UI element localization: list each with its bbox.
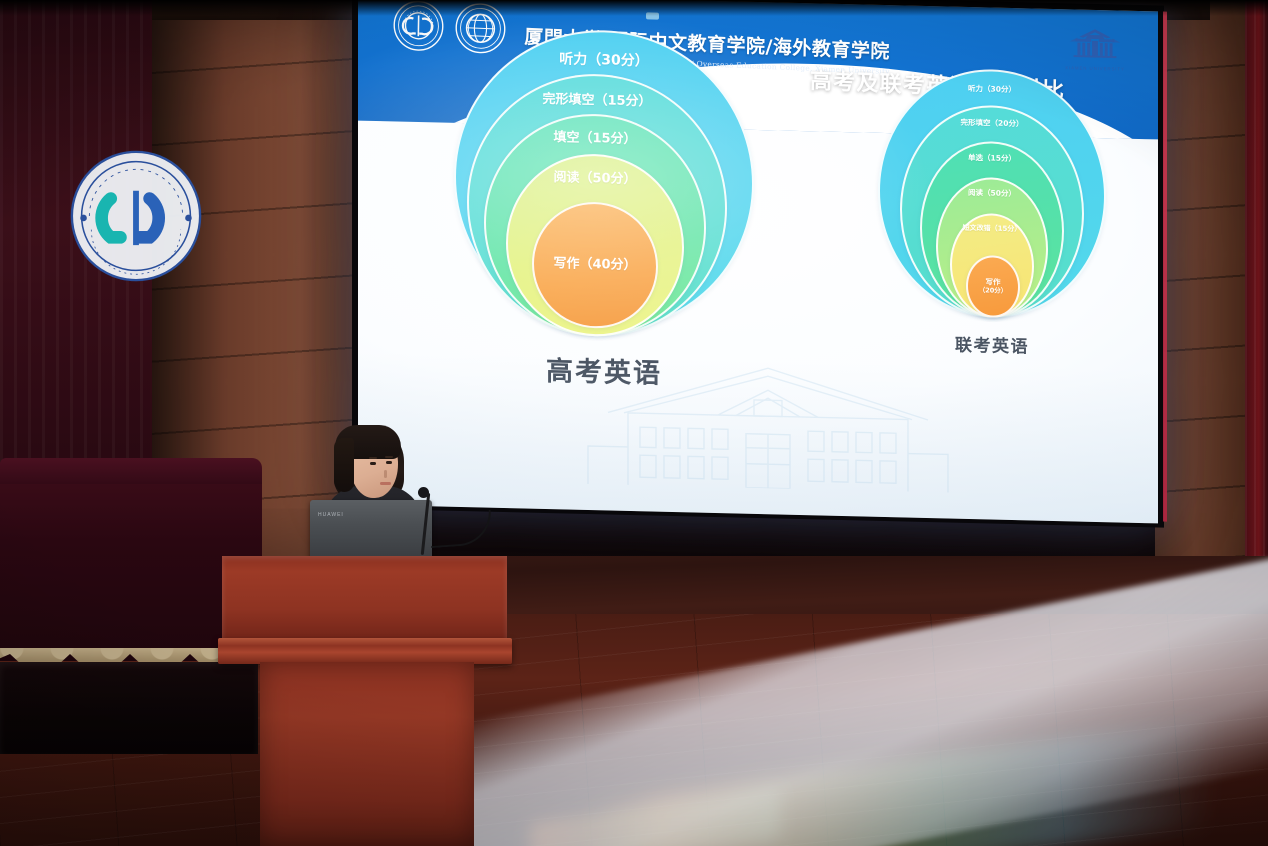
cie-xmu-circular-emblem bbox=[68, 148, 204, 284]
xiamen-university-building-logo: XIAMEN UNIVERSITY bbox=[1056, 25, 1134, 77]
podium-molding bbox=[218, 638, 512, 664]
presenter-mouth bbox=[380, 482, 391, 485]
diagram-gaokao-label: 高考英语 bbox=[454, 347, 754, 393]
diagram-gaokao: 听力（30分） 完形填空（15分） 填空（15分） 阅读（50分） 写作（40分… bbox=[454, 27, 754, 344]
podium-body bbox=[260, 662, 474, 846]
presenter-hair-side bbox=[334, 438, 354, 492]
ceiling-shadow bbox=[0, 0, 1268, 16]
diagram-liankao-label: 联考英语 bbox=[878, 329, 1106, 359]
diagram-liankao: 听力（30分） 完形填空（20分） 单选（15分） 阅读（50分） 短文改错（1… bbox=[878, 67, 1106, 322]
presenter-eyebrow-left bbox=[369, 457, 377, 459]
wall-panel-right bbox=[1155, 0, 1253, 640]
ring-liankao-6-score: （20分） bbox=[979, 287, 1008, 295]
podium bbox=[222, 556, 512, 846]
presenter-eye-left bbox=[370, 462, 376, 465]
upright-piano bbox=[0, 662, 258, 754]
laptop-brand-label: HUAWEI bbox=[318, 512, 344, 518]
microphone-cable bbox=[429, 510, 493, 548]
laptop-lid: HUAWEI bbox=[310, 500, 432, 558]
projection-screen: 厦門大学 国际中文教育学院/海外教育学院 Chinese Internation… bbox=[358, 0, 1158, 523]
ring-liankao-6: 写作 （20分） bbox=[966, 255, 1020, 318]
presenter-eye-right bbox=[386, 461, 392, 464]
podium-top-panel bbox=[222, 556, 507, 642]
presenter-nose bbox=[384, 470, 387, 478]
ring-gaokao-5-label: 写作（40分） bbox=[553, 257, 636, 274]
presenter-eyebrow-right bbox=[385, 456, 393, 458]
conference-hall-scene: 厦門大学 国际中文教育学院/海外教育学院 Chinese Internation… bbox=[0, 0, 1268, 846]
